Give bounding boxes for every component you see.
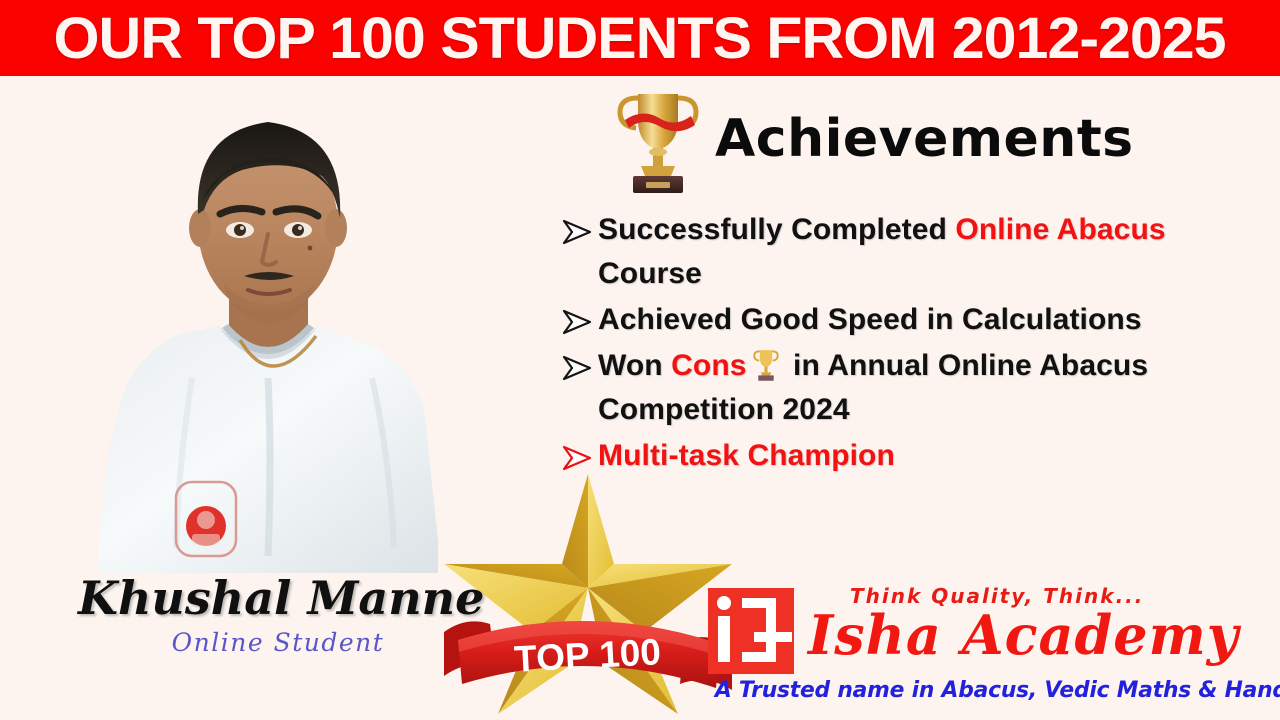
academy-logo-text: Think Quality, Think... Isha Academy: [808, 584, 1278, 662]
student-role: Online Student: [78, 628, 478, 657]
top-100-ribbon-label: TOP 100: [513, 631, 662, 680]
academy-logo-block: Think Quality, Think... Isha Academy A T…: [700, 586, 1275, 696]
achievement-text-3: Won Cons in Annual Online AbacusCompetit…: [598, 344, 1148, 432]
page-title: OUR TOP 100 STUDENTS FROM 2012-2025: [54, 5, 1226, 72]
achievements-list: Successfully Completed Online AbacusCour…: [558, 208, 1258, 480]
achievement-3-highlight: Cons: [671, 349, 746, 382]
achievement-item-2: Achieved Good Speed in Calculations: [558, 298, 1258, 342]
trophy-icon: [751, 347, 781, 381]
trophy-icon: [615, 84, 701, 194]
student-name: Khushal Manne: [78, 572, 478, 624]
achievement-3-part-a: Won: [598, 349, 671, 382]
ia-monogram-icon: [708, 588, 794, 674]
arrow-bullet-icon: [558, 348, 598, 388]
academy-tagline: A Trusted name in Abacus, Vedic Maths & …: [715, 678, 1277, 703]
student-photo: [72, 78, 464, 573]
achievement-1-part-b: Course: [598, 257, 702, 290]
achievement-1-part-a: Successfully Completed: [598, 213, 955, 246]
student-name-block: Khushal Manne Online Student: [78, 572, 478, 657]
academy-name: Isha Academy: [808, 608, 1278, 662]
achievement-3-part-c: Competition 2024: [598, 393, 850, 426]
student-photo-illustration: [72, 78, 464, 573]
header-banner: OUR TOP 100 STUDENTS FROM 2012-2025: [0, 0, 1280, 76]
achievements-header: Achievements: [615, 84, 1134, 194]
poster-canvas: OUR TOP 100 STUDENTS FROM 2012-2025: [0, 0, 1280, 720]
achievement-item-1: Successfully Completed Online AbacusCour…: [558, 208, 1258, 296]
achievement-text-2: Achieved Good Speed in Calculations: [598, 298, 1142, 342]
achievement-3-part-b: in Annual Online Abacus: [785, 349, 1149, 382]
achievement-1-highlight: Online Abacus: [955, 213, 1165, 246]
achievements-title: Achievements: [715, 109, 1134, 169]
achievement-text-1: Successfully Completed Online AbacusCour…: [598, 208, 1166, 296]
achievement-item-3: Won Cons in Annual Online AbacusCompetit…: [558, 344, 1258, 432]
arrow-bullet-icon: [558, 302, 598, 342]
arrow-bullet-icon: [558, 212, 598, 252]
